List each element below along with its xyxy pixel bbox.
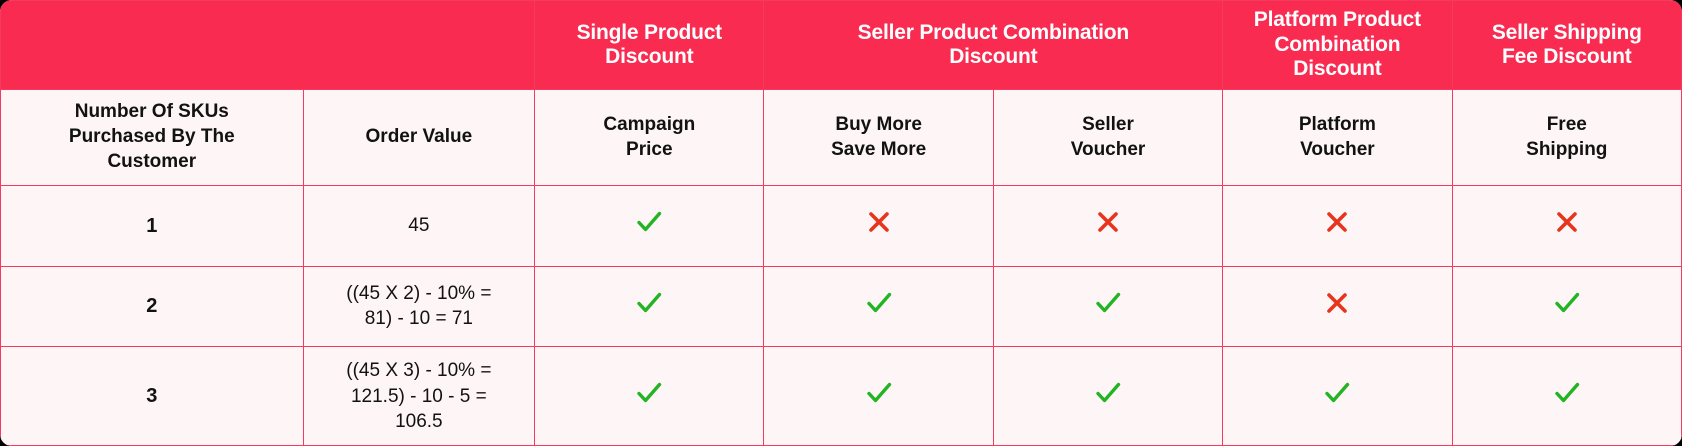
column-header-6: Free Shipping	[1452, 90, 1681, 186]
cross-icon	[1553, 208, 1581, 236]
eligible-cell	[535, 266, 764, 347]
order-value-cell: ((45 X 2) - 10% = 81) - 10 = 71	[303, 266, 535, 347]
eligible-cell	[1452, 266, 1681, 347]
eligible-cell	[1223, 347, 1452, 446]
check-icon	[1093, 288, 1123, 318]
eligible-cell	[535, 186, 764, 267]
check-icon	[634, 207, 664, 237]
check-icon	[1552, 378, 1582, 408]
not-eligible-cell	[993, 186, 1222, 267]
check-icon	[864, 378, 894, 408]
order-value-cell: 45	[303, 186, 535, 267]
check-icon	[634, 378, 664, 408]
eligible-cell	[993, 347, 1222, 446]
eligible-cell	[993, 266, 1222, 347]
not-eligible-cell	[1223, 266, 1452, 347]
not-eligible-cell	[1452, 186, 1681, 267]
column-header-row: Number Of SKUs Purchased By The Customer…	[1, 90, 1682, 186]
not-eligible-cell	[1223, 186, 1452, 267]
cross-icon	[1094, 208, 1122, 236]
not-eligible-cell	[764, 186, 993, 267]
group-header-1: Single Product Discount	[535, 1, 764, 90]
group-header-3: Platform Product Combination Discount	[1223, 1, 1452, 90]
eligible-cell	[1452, 347, 1681, 446]
sku-count-cell: 3	[1, 347, 304, 446]
check-icon	[1093, 378, 1123, 408]
eligible-cell	[764, 347, 993, 446]
table-row: 3((45 X 3) - 10% = 121.5) - 10 - 5 = 106…	[1, 347, 1682, 446]
column-header-4: Seller Voucher	[993, 90, 1222, 186]
column-header-5: Platform Voucher	[1223, 90, 1452, 186]
table-row: 2((45 X 2) - 10% = 81) - 10 = 71	[1, 266, 1682, 347]
column-header-2: Campaign Price	[535, 90, 764, 186]
column-header-0: Number Of SKUs Purchased By The Customer	[1, 90, 304, 186]
discount-comparison-table: Single Product DiscountSeller Product Co…	[0, 0, 1682, 446]
eligible-cell	[764, 266, 993, 347]
column-header-3: Buy More Save More	[764, 90, 993, 186]
cross-icon	[1323, 208, 1351, 236]
group-header-2: Seller Product Combination Discount	[764, 1, 1223, 90]
check-icon	[864, 288, 894, 318]
eligible-cell	[535, 347, 764, 446]
table-row: 145	[1, 186, 1682, 267]
table-body: 1452((45 X 2) - 10% = 81) - 10 = 713((45…	[1, 186, 1682, 446]
group-header-empty	[1, 1, 535, 90]
check-icon	[1552, 288, 1582, 318]
group-header-row: Single Product DiscountSeller Product Co…	[1, 1, 1682, 90]
sku-count-cell: 1	[1, 186, 304, 267]
check-icon	[634, 288, 664, 318]
cross-icon	[865, 208, 893, 236]
group-header-4: Seller Shipping Fee Discount	[1452, 1, 1681, 90]
check-icon	[1322, 378, 1352, 408]
column-header-1: Order Value	[303, 90, 535, 186]
cross-icon	[1323, 289, 1351, 317]
sku-count-cell: 2	[1, 266, 304, 347]
order-value-cell: ((45 X 3) - 10% = 121.5) - 10 - 5 = 106.…	[303, 347, 535, 446]
